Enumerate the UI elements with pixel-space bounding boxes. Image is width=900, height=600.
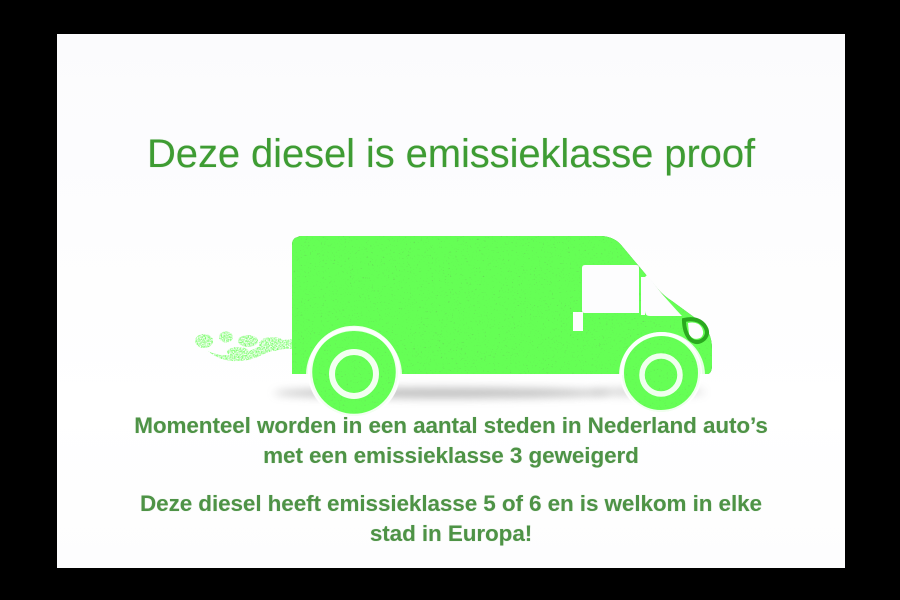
- paragraph-one-line-1: Momenteel worden in een aantal steden in…: [57, 411, 845, 441]
- page-title: Deze diesel is emissieklasse proof: [57, 132, 845, 176]
- poster-canvas: Deze diesel is emissieklasse proof: [57, 34, 845, 568]
- paragraph-two-line-2: stad in Europa!: [57, 519, 845, 549]
- paragraph-two: Deze diesel heeft emissieklasse 5 of 6 e…: [57, 489, 845, 548]
- door-gap: [573, 312, 583, 331]
- paragraph-two-line-1: Deze diesel heeft emissieklasse 5 of 6 e…: [57, 489, 845, 519]
- exhaust-plume: [195, 332, 292, 362]
- paragraph-one: Momenteel worden in een aantal steden in…: [57, 411, 845, 470]
- glass-divider: [641, 277, 645, 315]
- rear-side-window: [582, 265, 639, 313]
- poster-frame: Deze diesel is emissieklasse proof: [0, 0, 900, 600]
- paragraph-one-line-2: met een emissieklasse 3 geweigerd: [57, 441, 845, 471]
- green-van-illustration: [192, 189, 712, 429]
